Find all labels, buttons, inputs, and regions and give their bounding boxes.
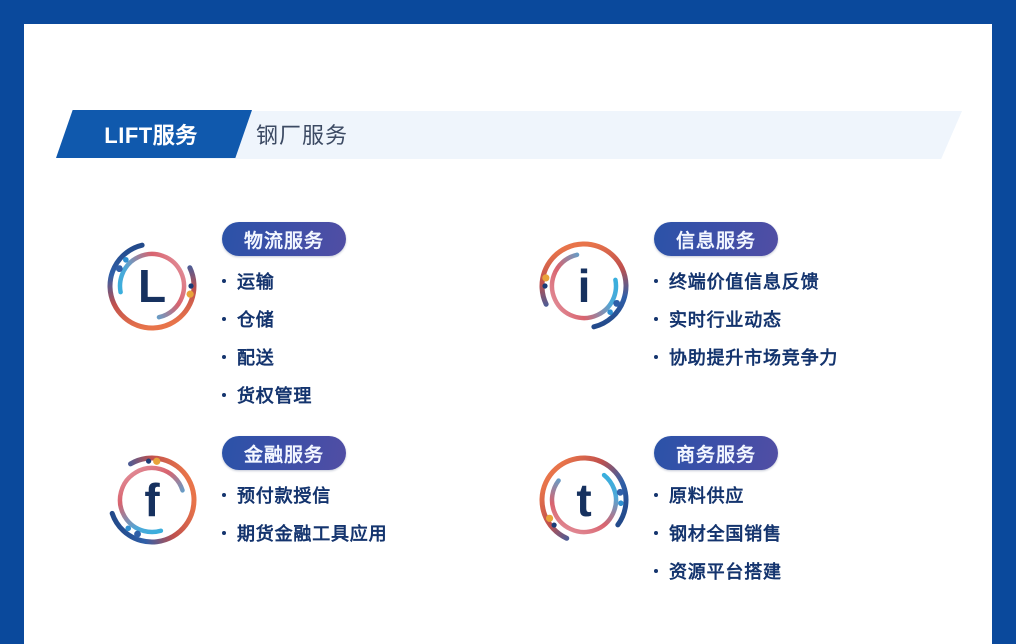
bullet-dot-icon [222, 531, 226, 535]
list-item: 货权管理 [222, 382, 346, 408]
list-item-label: 终端价值信息反馈 [669, 268, 819, 294]
svg-text:L: L [138, 260, 166, 312]
service-block: L物流服务运输仓储配送货权管理 [100, 222, 346, 408]
list-item: 期货金融工具应用 [222, 520, 387, 546]
service-badge: 信息服务 [654, 222, 778, 256]
service-badge: 金融服务 [222, 436, 346, 470]
list-item-label: 预付款授信 [237, 482, 331, 508]
list-item-label: 实时行业动态 [669, 306, 782, 332]
list-item: 配送 [222, 344, 346, 370]
slide-header: LIFT服务 钢厂服务 [24, 88, 968, 140]
list-item: 仓储 [222, 306, 346, 332]
service-block: t商务服务原料供应钢材全国销售资源平台搭建 [532, 436, 782, 584]
lift-trade-circle-icon: t [532, 448, 636, 552]
list-item: 协助提升市场竞争力 [654, 344, 838, 370]
service-block: i信息服务终端价值信息反馈实时行业动态协助提升市场竞争力 [532, 222, 838, 370]
bullet-dot-icon [222, 493, 226, 497]
service-body: 金融服务预付款授信期货金融工具应用 [222, 436, 387, 546]
list-item-label: 仓储 [237, 306, 275, 332]
bullet-dot-icon [654, 569, 658, 573]
bullet-dot-icon [222, 317, 226, 321]
list-item-label: 货权管理 [237, 382, 312, 408]
lift-finance-circle-icon: f [100, 448, 204, 552]
list-item-label: 资源平台搭建 [669, 558, 782, 584]
service-block: f金融服务预付款授信期货金融工具应用 [100, 436, 387, 552]
bullet-dot-icon [222, 393, 226, 397]
bullet-dot-icon [222, 355, 226, 359]
list-item: 原料供应 [654, 482, 782, 508]
list-item: 预付款授信 [222, 482, 387, 508]
list-item-label: 原料供应 [669, 482, 744, 508]
list-item: 钢材全国销售 [654, 520, 782, 546]
header-tab-label: LIFT服务 [56, 110, 252, 158]
service-item-list: 终端价值信息反馈实时行业动态协助提升市场竞争力 [654, 268, 838, 370]
bullet-dot-icon [654, 279, 658, 283]
service-badge: 商务服务 [654, 436, 778, 470]
bullet-dot-icon [654, 493, 658, 497]
header-tab: LIFT服务 [56, 110, 252, 158]
services-grid: L物流服务运输仓储配送货权管理i信息服务终端价值信息反馈实时行业动态协助提升市场… [24, 200, 968, 620]
list-item: 实时行业动态 [654, 306, 838, 332]
service-item-list: 预付款授信期货金融工具应用 [222, 482, 387, 546]
service-body: 商务服务原料供应钢材全国销售资源平台搭建 [654, 436, 782, 584]
header-subtitle: 钢厂服务 [256, 110, 348, 158]
svg-text:t: t [576, 474, 591, 526]
list-item: 终端价值信息反馈 [654, 268, 838, 294]
bullet-dot-icon [222, 279, 226, 283]
service-body: 信息服务终端价值信息反馈实时行业动态协助提升市场竞争力 [654, 222, 838, 370]
list-item-label: 运输 [237, 268, 275, 294]
lift-logistics-circle-icon: L [100, 234, 204, 338]
service-body: 物流服务运输仓储配送货权管理 [222, 222, 346, 408]
bullet-dot-icon [654, 317, 658, 321]
bullet-dot-icon [654, 355, 658, 359]
list-item-label: 期货金融工具应用 [237, 520, 387, 546]
list-item: 运输 [222, 268, 346, 294]
list-item-label: 协助提升市场竞争力 [669, 344, 838, 370]
service-badge: 物流服务 [222, 222, 346, 256]
list-item-label: 钢材全国销售 [669, 520, 782, 546]
lift-information-circle-icon: i [532, 234, 636, 338]
service-item-list: 运输仓储配送货权管理 [222, 268, 346, 408]
svg-text:i: i [578, 260, 591, 312]
slide-frame: LIFT服务 钢厂服务 L物流服务运输仓储配送货权管理i信息服务终端价值信息反馈… [0, 0, 1016, 644]
list-item: 资源平台搭建 [654, 558, 782, 584]
svg-text:f: f [144, 474, 160, 526]
list-item-label: 配送 [237, 344, 275, 370]
service-item-list: 原料供应钢材全国销售资源平台搭建 [654, 482, 782, 584]
bullet-dot-icon [654, 531, 658, 535]
slide-canvas: LIFT服务 钢厂服务 L物流服务运输仓储配送货权管理i信息服务终端价值信息反馈… [24, 24, 992, 644]
